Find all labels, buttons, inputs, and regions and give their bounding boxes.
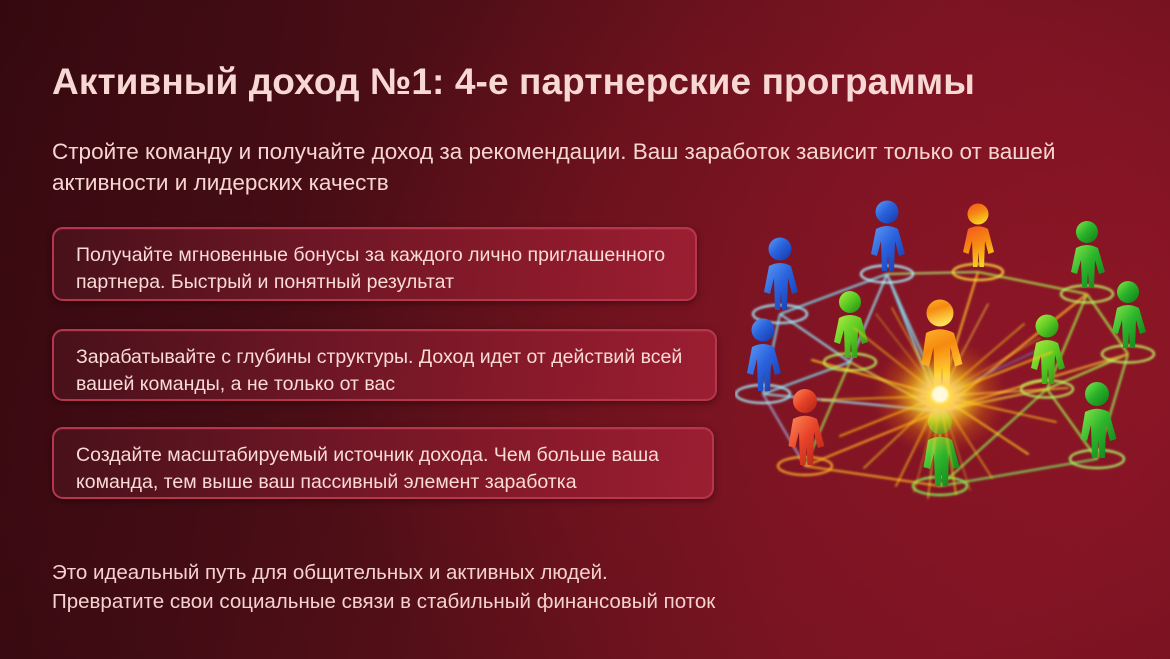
footer-line-2: Превратите свои социальные связи в стаби… xyxy=(52,587,852,616)
subtitle-text: Стройте команду и получайте доход за рек… xyxy=(52,136,1062,198)
callout-box-3: Создайте масштабируемый источник дохода.… xyxy=(52,427,714,499)
callout-box-2-text: Зарабатывайте с глубины структуры. Доход… xyxy=(76,344,695,398)
callout-box-3-text: Создайте масштабируемый источник дохода.… xyxy=(76,442,692,496)
person-figure-orange-top xyxy=(963,204,994,268)
callout-box-1: Получайте мгновенные бонусы за каждого л… xyxy=(52,227,697,301)
slide-canvas: Активный доход №1: 4-е партнерские прогр… xyxy=(0,0,1170,659)
person-figure-blue-upper-left xyxy=(764,238,798,311)
network-of-people-illustration xyxy=(735,196,1170,564)
footer-text: Это идеальный путь для общительных и акт… xyxy=(52,558,852,616)
page-title: Активный доход №1: 4-е партнерские прогр… xyxy=(52,59,1052,105)
person-figure-green-lower-right xyxy=(1081,382,1117,458)
person-figure-green-upper-right xyxy=(1071,221,1105,288)
person-figure-blue-top xyxy=(871,201,905,272)
callout-box-2: Зарабатывайте с глубины структуры. Доход… xyxy=(52,329,717,401)
callout-box-1-text: Получайте мгновенные бонусы за каждого л… xyxy=(76,242,675,296)
footer-line-1: Это идеальный путь для общительных и акт… xyxy=(52,558,852,587)
person-figure-green-inner-left xyxy=(834,291,868,358)
